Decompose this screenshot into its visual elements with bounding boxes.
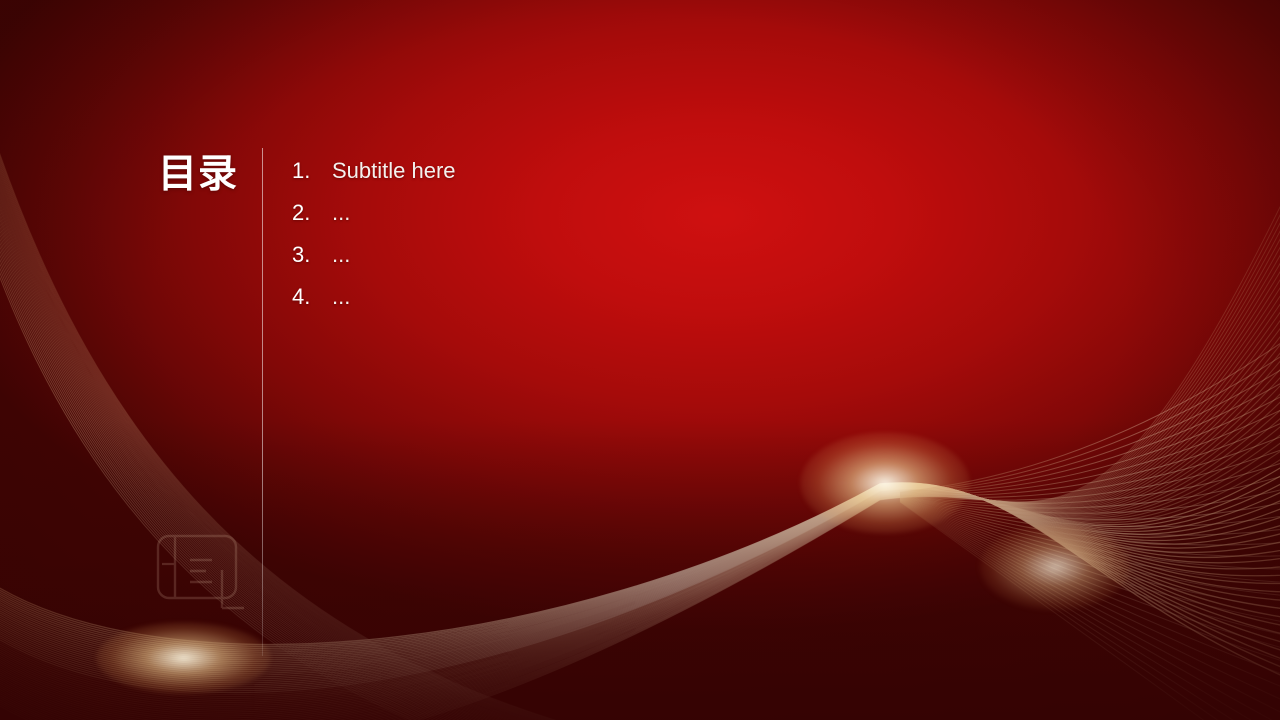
list-item[interactable]: 1. Subtitle here [292,156,852,198]
page-title: 目录 [0,152,238,198]
title-list-divider [262,148,263,656]
list-item-number: 2. [292,198,332,228]
presentation-slide: 目录 1. Subtitle here 2. ... 3. ... 4. ... [0,0,1280,720]
list-item[interactable]: 3. ... [292,240,852,282]
list-item-number: 1. [292,156,332,186]
list-item-number: 4. [292,282,332,312]
list-item-label: ... [332,198,350,228]
table-of-contents-list: 1. Subtitle here 2. ... 3. ... 4. ... [292,156,852,324]
list-item-label: Subtitle here [332,156,456,186]
list-item[interactable]: 2. ... [292,198,852,240]
list-item-label: ... [332,282,350,312]
slide-content: 目录 1. Subtitle here 2. ... 3. ... 4. ... [0,0,1280,720]
list-item-label: ... [332,240,350,270]
list-item[interactable]: 4. ... [292,282,852,324]
list-item-number: 3. [292,240,332,270]
